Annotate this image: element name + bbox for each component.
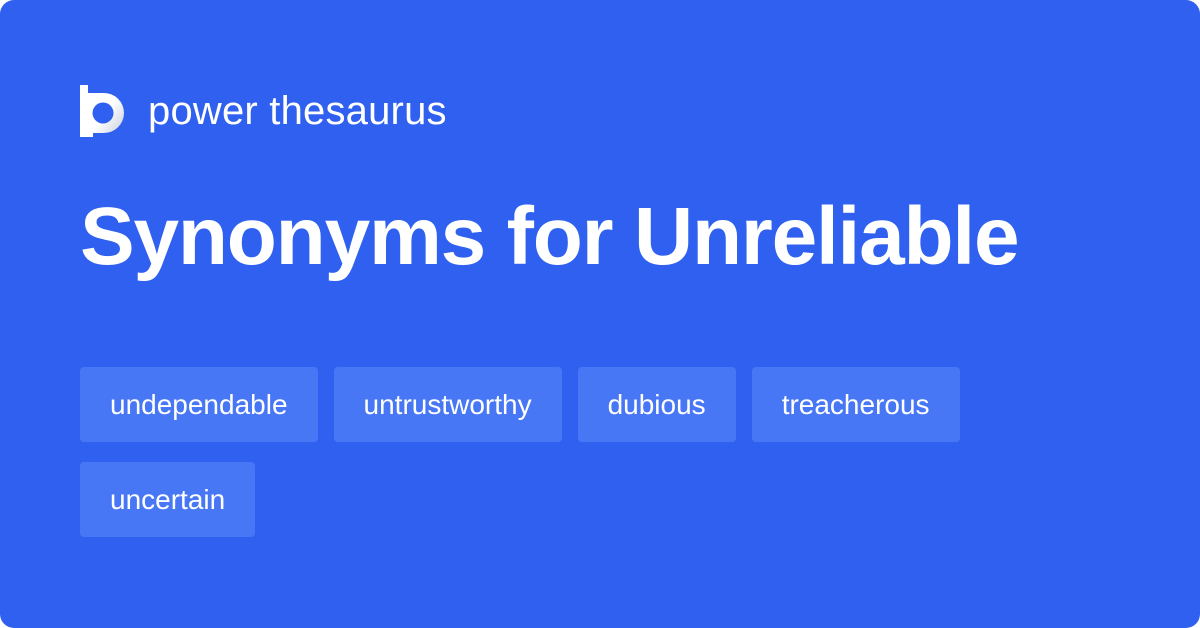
power-thesaurus-logo-icon [80, 85, 126, 137]
page-title: Synonyms for Unreliable [80, 196, 1018, 278]
brand-header[interactable]: power thesaurus [80, 82, 447, 140]
brand-name: power thesaurus [148, 91, 447, 131]
synonym-chip[interactable]: undependable [80, 367, 318, 442]
synonym-chip[interactable]: dubious [578, 367, 736, 442]
synonym-chip[interactable]: untrustworthy [334, 367, 562, 442]
synonym-chip-list: undependable untrustworthy dubious treac… [80, 367, 1120, 537]
share-card: power thesaurus Synonyms for Unreliable … [0, 0, 1200, 628]
synonym-chip[interactable]: uncertain [80, 462, 255, 537]
synonym-chip[interactable]: treacherous [752, 367, 960, 442]
